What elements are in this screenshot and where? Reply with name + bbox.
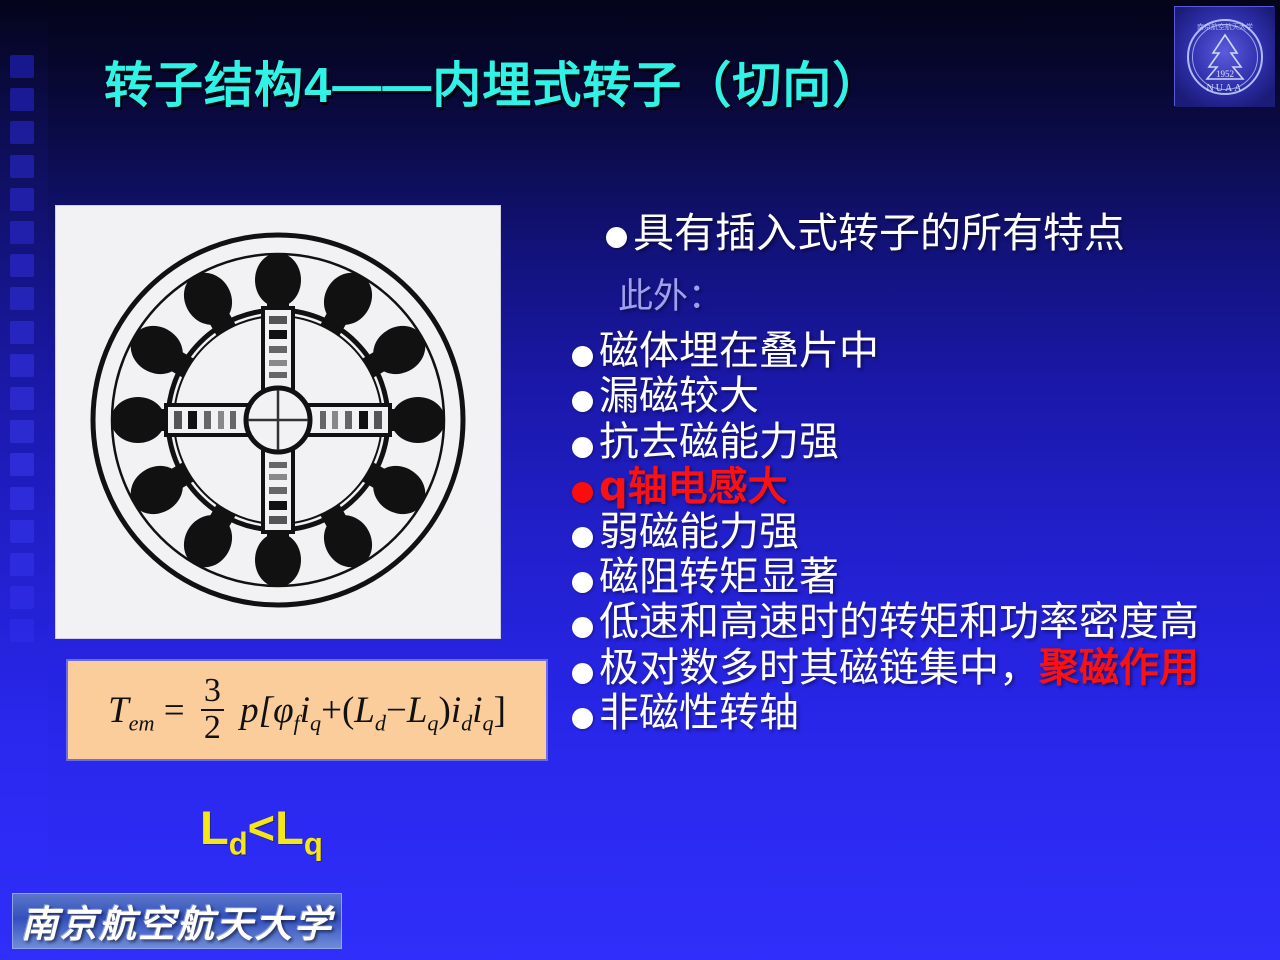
bullet-text: 磁体埋在叠片中 bbox=[599, 331, 879, 372]
svg-text:NUAA: NUAA bbox=[1207, 83, 1244, 94]
formula-id-sub: d bbox=[461, 711, 472, 736]
bullet-dot-icon bbox=[572, 391, 593, 412]
filmstrip-chip bbox=[10, 321, 34, 344]
formula-lhs-sub: em bbox=[129, 711, 155, 736]
bullet-row: q轴电感大 bbox=[572, 467, 1272, 508]
formula-Ld-sub: d bbox=[375, 711, 386, 736]
bullet-text: 抗去磁能力强 bbox=[599, 422, 839, 463]
filmstrip-chip bbox=[10, 254, 34, 277]
inequality-operator: < bbox=[248, 801, 275, 854]
bullet-dot-icon bbox=[572, 346, 593, 367]
inductance-inequality: Ld<Lq bbox=[200, 800, 323, 862]
bullet-dot-icon bbox=[572, 482, 593, 503]
formula-Lq: L bbox=[407, 690, 428, 731]
svg-text:1952: 1952 bbox=[1216, 69, 1234, 79]
formula-i1: i bbox=[300, 690, 310, 731]
nuaa-seal-logo: 1952 NUAA 南京航空航天大学 bbox=[1174, 6, 1274, 106]
bullet-dot-icon bbox=[572, 663, 593, 684]
bullet-text: 低速和高速时的转矩和功率密度高 bbox=[599, 602, 1199, 643]
filmstrip-chip bbox=[10, 55, 34, 78]
bullet-row: 极对数多时其磁链集中，聚磁作用 bbox=[572, 648, 1272, 689]
filmstrip-chip bbox=[10, 619, 34, 642]
bullet-text: 漏磁较大 bbox=[599, 376, 759, 417]
bullet-text: 弱磁能力强 bbox=[599, 512, 799, 553]
formula-rhs-start: p[φ bbox=[240, 690, 293, 731]
bullet-row: 磁阻转矩显著 bbox=[572, 557, 1272, 598]
filmstrip-chip bbox=[10, 520, 34, 543]
inequality-L1: L bbox=[200, 801, 229, 854]
filmstrip-chip bbox=[10, 221, 34, 244]
presentation-slide: 转子结构4——内埋式转子（切向） 1952 NUAA 南京航空航天大学 bbox=[0, 0, 1280, 960]
bullet-row: 磁体埋在叠片中 bbox=[572, 331, 1272, 372]
bullet-text: 磁阻转矩显著 bbox=[599, 557, 839, 598]
formula-Lq-sub: q bbox=[427, 711, 438, 736]
torque-formula: Tem = 3 2 p[φfiq+(Ld−Lq)idiq] bbox=[108, 674, 506, 745]
rotor-figure-panel bbox=[56, 206, 500, 638]
formula-lhs: T bbox=[108, 690, 129, 731]
filmstrip-chip bbox=[10, 121, 34, 144]
bullet-row: 非磁性转轴 bbox=[572, 693, 1272, 734]
slide-title: 转子结构4——内埋式转子（切向） bbox=[104, 46, 882, 117]
formula-denominator: 2 bbox=[201, 709, 224, 746]
formula-iq-sub: q bbox=[483, 711, 494, 736]
filmstrip-chip bbox=[10, 88, 34, 111]
formula-numerator: 3 bbox=[201, 674, 224, 709]
bullet-dot-icon bbox=[572, 708, 593, 729]
inequality-L2: L bbox=[275, 801, 304, 854]
bullet-dot-icon bbox=[572, 437, 593, 458]
bullet-dot-icon bbox=[572, 572, 593, 593]
formula-i1-sub: q bbox=[310, 711, 321, 736]
formula-bracket: ] bbox=[494, 690, 506, 731]
formula-iq: i bbox=[472, 690, 482, 731]
torque-formula-box: Tem = 3 2 p[φfiq+(Ld−Lq)idiq] bbox=[66, 659, 548, 761]
filmstrip-chip bbox=[10, 387, 34, 410]
formula-plus: +( bbox=[321, 690, 354, 731]
inequality-sub2: q bbox=[304, 826, 323, 861]
bullet-list: 磁体埋在叠片中漏磁较大抗去磁能力强q轴电感大弱磁能力强磁阻转矩显著低速和高速时的… bbox=[572, 331, 1272, 734]
bullet-row: 低速和高速时的转矩和功率密度高 bbox=[572, 602, 1272, 643]
formula-Ld: L bbox=[354, 690, 375, 731]
filmstrip-chip bbox=[10, 420, 34, 443]
formula-equals: = bbox=[164, 690, 185, 731]
bullet-dot-icon bbox=[606, 227, 627, 248]
lead-bullet-text: 具有插入式转子的所有特点 bbox=[633, 212, 1125, 254]
filmstrip-chip bbox=[10, 586, 34, 609]
formula-fraction: 3 2 bbox=[201, 674, 224, 745]
filmstrip-chip bbox=[10, 453, 34, 476]
filmstrip-chip bbox=[10, 354, 34, 377]
formula-id: i bbox=[451, 690, 461, 731]
bullet-dot-icon bbox=[572, 527, 593, 548]
bullet-dot-icon bbox=[572, 617, 593, 638]
lead-bullet-row: 具有插入式转子的所有特点 bbox=[606, 212, 1272, 254]
bullet-content-area: 具有插入式转子的所有特点 此外： 磁体埋在叠片中漏磁较大抗去磁能力强q轴电感大弱… bbox=[572, 212, 1272, 738]
filmstrip-chip bbox=[10, 287, 34, 310]
bullet-text: 极对数多时其磁链集中，聚磁作用 bbox=[599, 648, 1199, 689]
bullet-row: 漏磁较大 bbox=[572, 376, 1272, 417]
bullet-text-highlight: 聚磁作用 bbox=[1039, 645, 1199, 691]
note-label: 此外： bbox=[618, 268, 1272, 319]
filmstrip-chip bbox=[10, 155, 34, 178]
filmstrip-chip bbox=[10, 487, 34, 510]
formula-minus: − bbox=[386, 690, 407, 731]
inequality-sub1: d bbox=[229, 826, 248, 861]
bullet-row: 抗去磁能力强 bbox=[572, 422, 1272, 463]
filmstrip-chip bbox=[10, 553, 34, 576]
filmstrip-decoration bbox=[0, 0, 48, 960]
university-name-banner: 南京航空航天大学 bbox=[12, 893, 342, 949]
svg-text:南京航空航天大学: 南京航空航天大学 bbox=[1197, 22, 1253, 31]
filmstrip-chip bbox=[10, 188, 34, 211]
bullet-text: 非磁性转轴 bbox=[599, 693, 799, 734]
bullet-row: 弱磁能力强 bbox=[572, 512, 1272, 553]
university-name-text: 南京航空航天大学 bbox=[21, 894, 333, 948]
bullet-text: q轴电感大 bbox=[599, 467, 788, 508]
formula-close-paren: ) bbox=[439, 690, 451, 731]
